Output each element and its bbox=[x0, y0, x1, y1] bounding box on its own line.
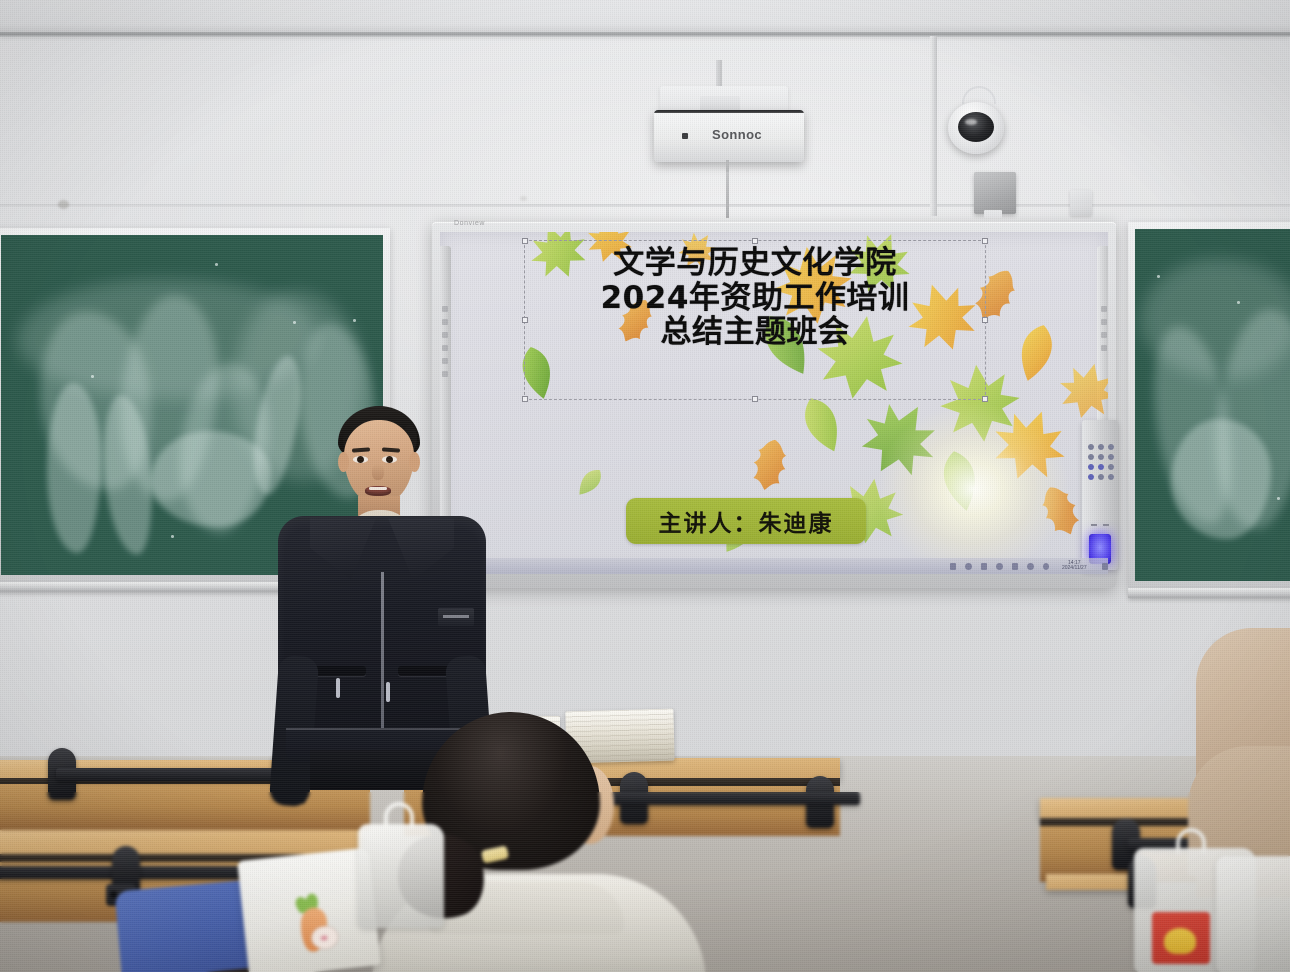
app-icon[interactable] bbox=[1012, 563, 1018, 570]
control-button[interactable] bbox=[1108, 454, 1114, 460]
volume-icon[interactable] bbox=[1043, 563, 1049, 570]
interactive-whiteboard[interactable]: Donview bbox=[432, 222, 1116, 588]
slide-lens-flare bbox=[878, 404, 1068, 574]
wall-blemish bbox=[520, 196, 527, 201]
presenter-eye bbox=[353, 456, 368, 463]
wifi-icon[interactable] bbox=[1027, 563, 1033, 570]
resize-handle[interactable] bbox=[522, 396, 528, 402]
control-button[interactable] bbox=[1088, 474, 1094, 480]
source-icon[interactable] bbox=[442, 319, 448, 325]
screenshot-icon[interactable] bbox=[1101, 332, 1107, 338]
screenshot-icon[interactable] bbox=[442, 332, 448, 338]
window-icon[interactable] bbox=[950, 563, 956, 570]
presenter-ear bbox=[409, 452, 420, 472]
tote-bag-artwork bbox=[285, 889, 347, 955]
taskbar-date: 2024/11/27 bbox=[1062, 566, 1087, 572]
control-button[interactable] bbox=[1098, 454, 1104, 460]
camera-junction-box bbox=[974, 172, 1016, 214]
slide-title-line-2: 2024年资助工作培训 bbox=[530, 281, 980, 316]
ceiling-strip bbox=[0, 0, 1290, 34]
jacket-sleeve-badge bbox=[438, 608, 474, 626]
desk-surface bbox=[0, 830, 362, 856]
control-button[interactable] bbox=[1088, 454, 1094, 460]
zipper-pull bbox=[336, 678, 340, 698]
control-button[interactable] bbox=[1098, 444, 1104, 450]
snack-package bbox=[1152, 912, 1210, 964]
whiteboard-brand-label: Donview bbox=[454, 220, 485, 227]
resize-handle[interactable] bbox=[982, 238, 988, 244]
resize-handle[interactable] bbox=[982, 317, 988, 323]
folder-icon[interactable] bbox=[965, 563, 971, 570]
presenter-brow bbox=[382, 447, 400, 452]
wall-conduit bbox=[930, 36, 937, 216]
control-button-grid[interactable] bbox=[1082, 444, 1118, 480]
slide-title-line-3: 总结主题班会 bbox=[530, 315, 980, 350]
classroom-photo: Sonnoc Donview bbox=[0, 0, 1290, 972]
bag-handle bbox=[1176, 828, 1206, 854]
slide-speaker-banner[interactable]: 主讲人：朱迪康 bbox=[626, 498, 866, 544]
slide-title-line-1: 文学与历史文化学院 bbox=[530, 246, 980, 281]
freeze-icon[interactable] bbox=[1101, 345, 1107, 351]
camera-lens-icon bbox=[958, 112, 994, 142]
control-button[interactable] bbox=[1088, 444, 1094, 450]
resize-handle[interactable] bbox=[522, 238, 528, 244]
projector-led-icon bbox=[682, 133, 688, 139]
power-icon[interactable] bbox=[442, 371, 448, 377]
control-button[interactable] bbox=[1088, 464, 1094, 470]
wall-seam bbox=[0, 204, 1290, 207]
presenter-ear bbox=[338, 452, 349, 472]
control-button[interactable] bbox=[1108, 474, 1114, 480]
control-button[interactable] bbox=[1098, 464, 1104, 470]
zipper-pull bbox=[386, 682, 390, 702]
control-button[interactable] bbox=[1098, 474, 1104, 480]
desk-frame-bar bbox=[56, 768, 296, 781]
control-button[interactable] bbox=[1108, 444, 1114, 450]
bag-handle bbox=[384, 802, 414, 828]
security-camera-icon bbox=[948, 102, 1004, 154]
jacket-collar bbox=[310, 518, 376, 580]
resize-handle[interactable] bbox=[752, 396, 758, 402]
menu-icon[interactable] bbox=[442, 306, 448, 312]
projector-brand-label: Sonnoc bbox=[712, 127, 762, 142]
slide-speaker-name: 主讲人：朱迪康 bbox=[659, 504, 834, 538]
resize-handle[interactable] bbox=[982, 396, 988, 402]
resize-handle[interactable] bbox=[522, 317, 528, 323]
chalkboard-surface bbox=[1135, 229, 1290, 581]
right-chalkboard bbox=[1128, 222, 1290, 588]
control-button[interactable] bbox=[1108, 464, 1114, 470]
file-icon[interactable] bbox=[996, 563, 1002, 570]
taskbar-clock[interactable]: 14:17 2024/11/27 bbox=[1062, 561, 1087, 572]
jacket-collar bbox=[388, 518, 454, 580]
wall-blemish bbox=[58, 200, 69, 209]
volume-icon[interactable] bbox=[442, 358, 448, 364]
edge-icon[interactable] bbox=[981, 563, 987, 570]
resize-handle[interactable] bbox=[752, 238, 758, 244]
presenter-brow bbox=[352, 447, 370, 452]
control-dashes bbox=[1091, 524, 1109, 526]
wall-socket-box bbox=[1070, 190, 1092, 216]
projector: Sonnoc bbox=[654, 110, 804, 162]
freeze-icon[interactable] bbox=[442, 345, 448, 351]
ceiling-trim-line bbox=[0, 32, 1290, 37]
tray-icon[interactable] bbox=[1102, 563, 1108, 570]
presenter-eye bbox=[382, 456, 397, 463]
slide-title[interactable]: 文学与历史文化学院 2024年资助工作培训 总结主题班会 bbox=[530, 246, 980, 350]
projector-cable bbox=[726, 172, 729, 218]
source-icon[interactable] bbox=[1101, 319, 1107, 325]
presenter-mouth bbox=[365, 486, 391, 496]
plastic-bag bbox=[1216, 856, 1290, 972]
whiteboard-screen[interactable]: 文学与历史文化学院 2024年资助工作培训 总结主题班会 主讲人：朱迪康 14:… bbox=[440, 232, 1108, 574]
desktop-taskbar[interactable]: 14:17 2024/11/27 bbox=[440, 558, 1108, 574]
presenter-nose bbox=[372, 464, 384, 480]
plastic-bag bbox=[358, 824, 444, 928]
whiteboard-control-panel[interactable] bbox=[1082, 420, 1118, 570]
right-chalk-tray bbox=[1128, 588, 1290, 598]
menu-icon[interactable] bbox=[1101, 306, 1107, 312]
